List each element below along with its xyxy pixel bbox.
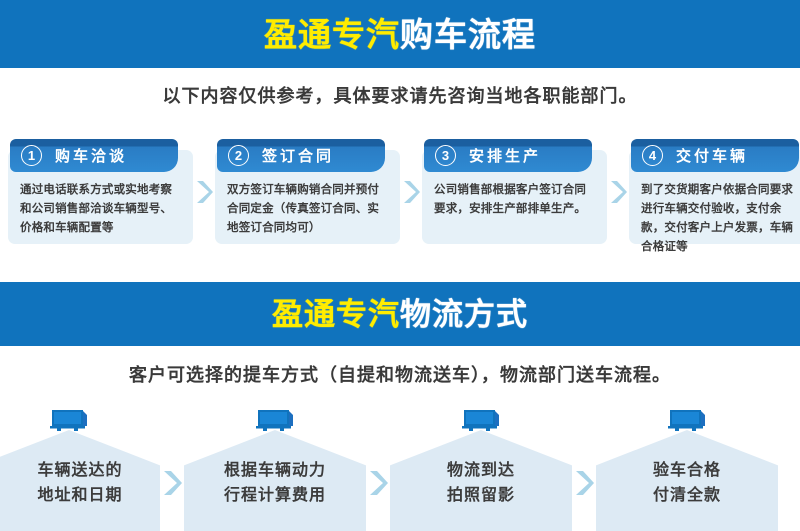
truck-icon [46,407,92,433]
step-description: 双方签订车辆购销合同并预付合同定金（传真签订合同、实地签订合同均可） [227,181,390,238]
step-number-badge: 3 [435,145,456,166]
logistics-step-line1: 验车合格 [596,459,778,484]
step-title: 购车洽谈 [55,145,127,166]
step-card-header: 3 安排生产 [424,139,592,172]
chevron-right-icon-4 [160,404,184,531]
purchase-steps-row: 1 购车洽谈 通过电话联系方式或实地考察和公司销售部洽谈车辆型号、价格和车辆配置… [0,139,800,244]
logistics-step-card-1[interactable]: 车辆送达的 地址和日期 [0,404,160,531]
logistics-banner: 盈通专汽物流方式 [0,282,800,346]
logistics-step-line2: 付清全款 [596,484,778,509]
purchase-step-card-1[interactable]: 1 购车洽谈 通过电话联系方式或实地考察和公司销售部洽谈车辆型号、价格和车辆配置… [8,139,193,244]
step-title: 签订合同 [262,145,334,166]
truck-icon [458,407,504,433]
step-number-badge: 1 [21,145,42,166]
truck-icon [664,407,710,433]
logistics-step-label: 验车合格 付清全款 [596,459,778,509]
step-title: 交付车辆 [676,145,748,166]
step-number-badge: 2 [228,145,249,166]
logistics-step-line1: 车辆送达的 [0,459,160,484]
step-card-header: 1 购车洽谈 [10,139,178,172]
logistics-steps-row: 车辆送达的 地址和日期 根据车辆动力 [0,404,800,531]
step-description: 到了交货期客户依据合同要求进行车辆交付验收，支付余款，交付客户上户发票，车辆合格… [641,181,800,257]
step-number-badge: 4 [642,145,663,166]
step-description: 通过电话联系方式或实地考察和公司销售部洽谈车辆型号、价格和车辆配置等 [20,181,183,238]
logistics-step-label: 根据车辆动力 行程计算费用 [184,459,366,509]
purchase-banner-rest-text: 购车流程 [400,16,536,53]
purchase-subtitle: 以下内容仅供参考，具体要求请先咨询当地各职能部门。 [0,82,800,108]
chevron-right-icon-3 [607,139,629,244]
truck-icon [252,407,298,433]
brand-name-text: 盈通专汽 [264,16,400,53]
logistics-step-line1: 物流到达 [390,459,572,484]
chevron-right-icon-5 [366,404,390,531]
purchase-step-card-4[interactable]: 4 交付车辆 到了交货期客户依据合同要求进行车辆交付验收，支付余款，交付客户上户… [629,139,800,244]
step-card-header: 4 交付车辆 [631,139,799,172]
logistics-step-label: 物流到达 拍照留影 [390,459,572,509]
logistics-step-label: 车辆送达的 地址和日期 [0,459,160,509]
logistics-subtitle: 客户可选择的提车方式（自提和物流送车），物流部门送车流程。 [0,361,800,387]
logistics-step-card-4[interactable]: 验车合格 付清全款 [596,404,778,531]
logistics-step-line1: 根据车辆动力 [184,459,366,484]
logistics-banner-rest-text: 物流方式 [400,297,528,332]
step-title: 安排生产 [469,145,541,166]
brand-name-text: 盈通专汽 [272,297,400,332]
page-root: 盈通专汽购车流程 以下内容仅供参考，具体要求请先咨询当地各职能部门。 1 购车洽… [0,0,800,531]
logistics-step-card-3[interactable]: 物流到达 拍照留影 [390,404,572,531]
logistics-step-card-2[interactable]: 根据车辆动力 行程计算费用 [184,404,366,531]
step-description: 公司销售部根据客户签订合同要求，安排生产部排单生产。 [434,181,597,219]
step-card-header: 2 签订合同 [217,139,385,172]
purchase-banner: 盈通专汽购车流程 [0,0,800,68]
logistics-step-line2: 地址和日期 [0,484,160,509]
chevron-right-icon-2 [400,139,422,244]
purchase-step-card-2[interactable]: 2 签订合同 双方签订车辆购销合同并预付合同定金（传真签订合同、实地签订合同均可… [215,139,400,244]
logistics-step-line2: 拍照留影 [390,484,572,509]
chevron-right-icon-6 [572,404,596,531]
logistics-banner-title: 盈通专汽物流方式 [272,299,528,330]
logistics-step-line2: 行程计算费用 [184,484,366,509]
purchase-banner-title: 盈通专汽购车流程 [264,18,536,51]
chevron-right-icon-1 [193,139,215,244]
purchase-step-card-3[interactable]: 3 安排生产 公司销售部根据客户签订合同要求，安排生产部排单生产。 [422,139,607,244]
